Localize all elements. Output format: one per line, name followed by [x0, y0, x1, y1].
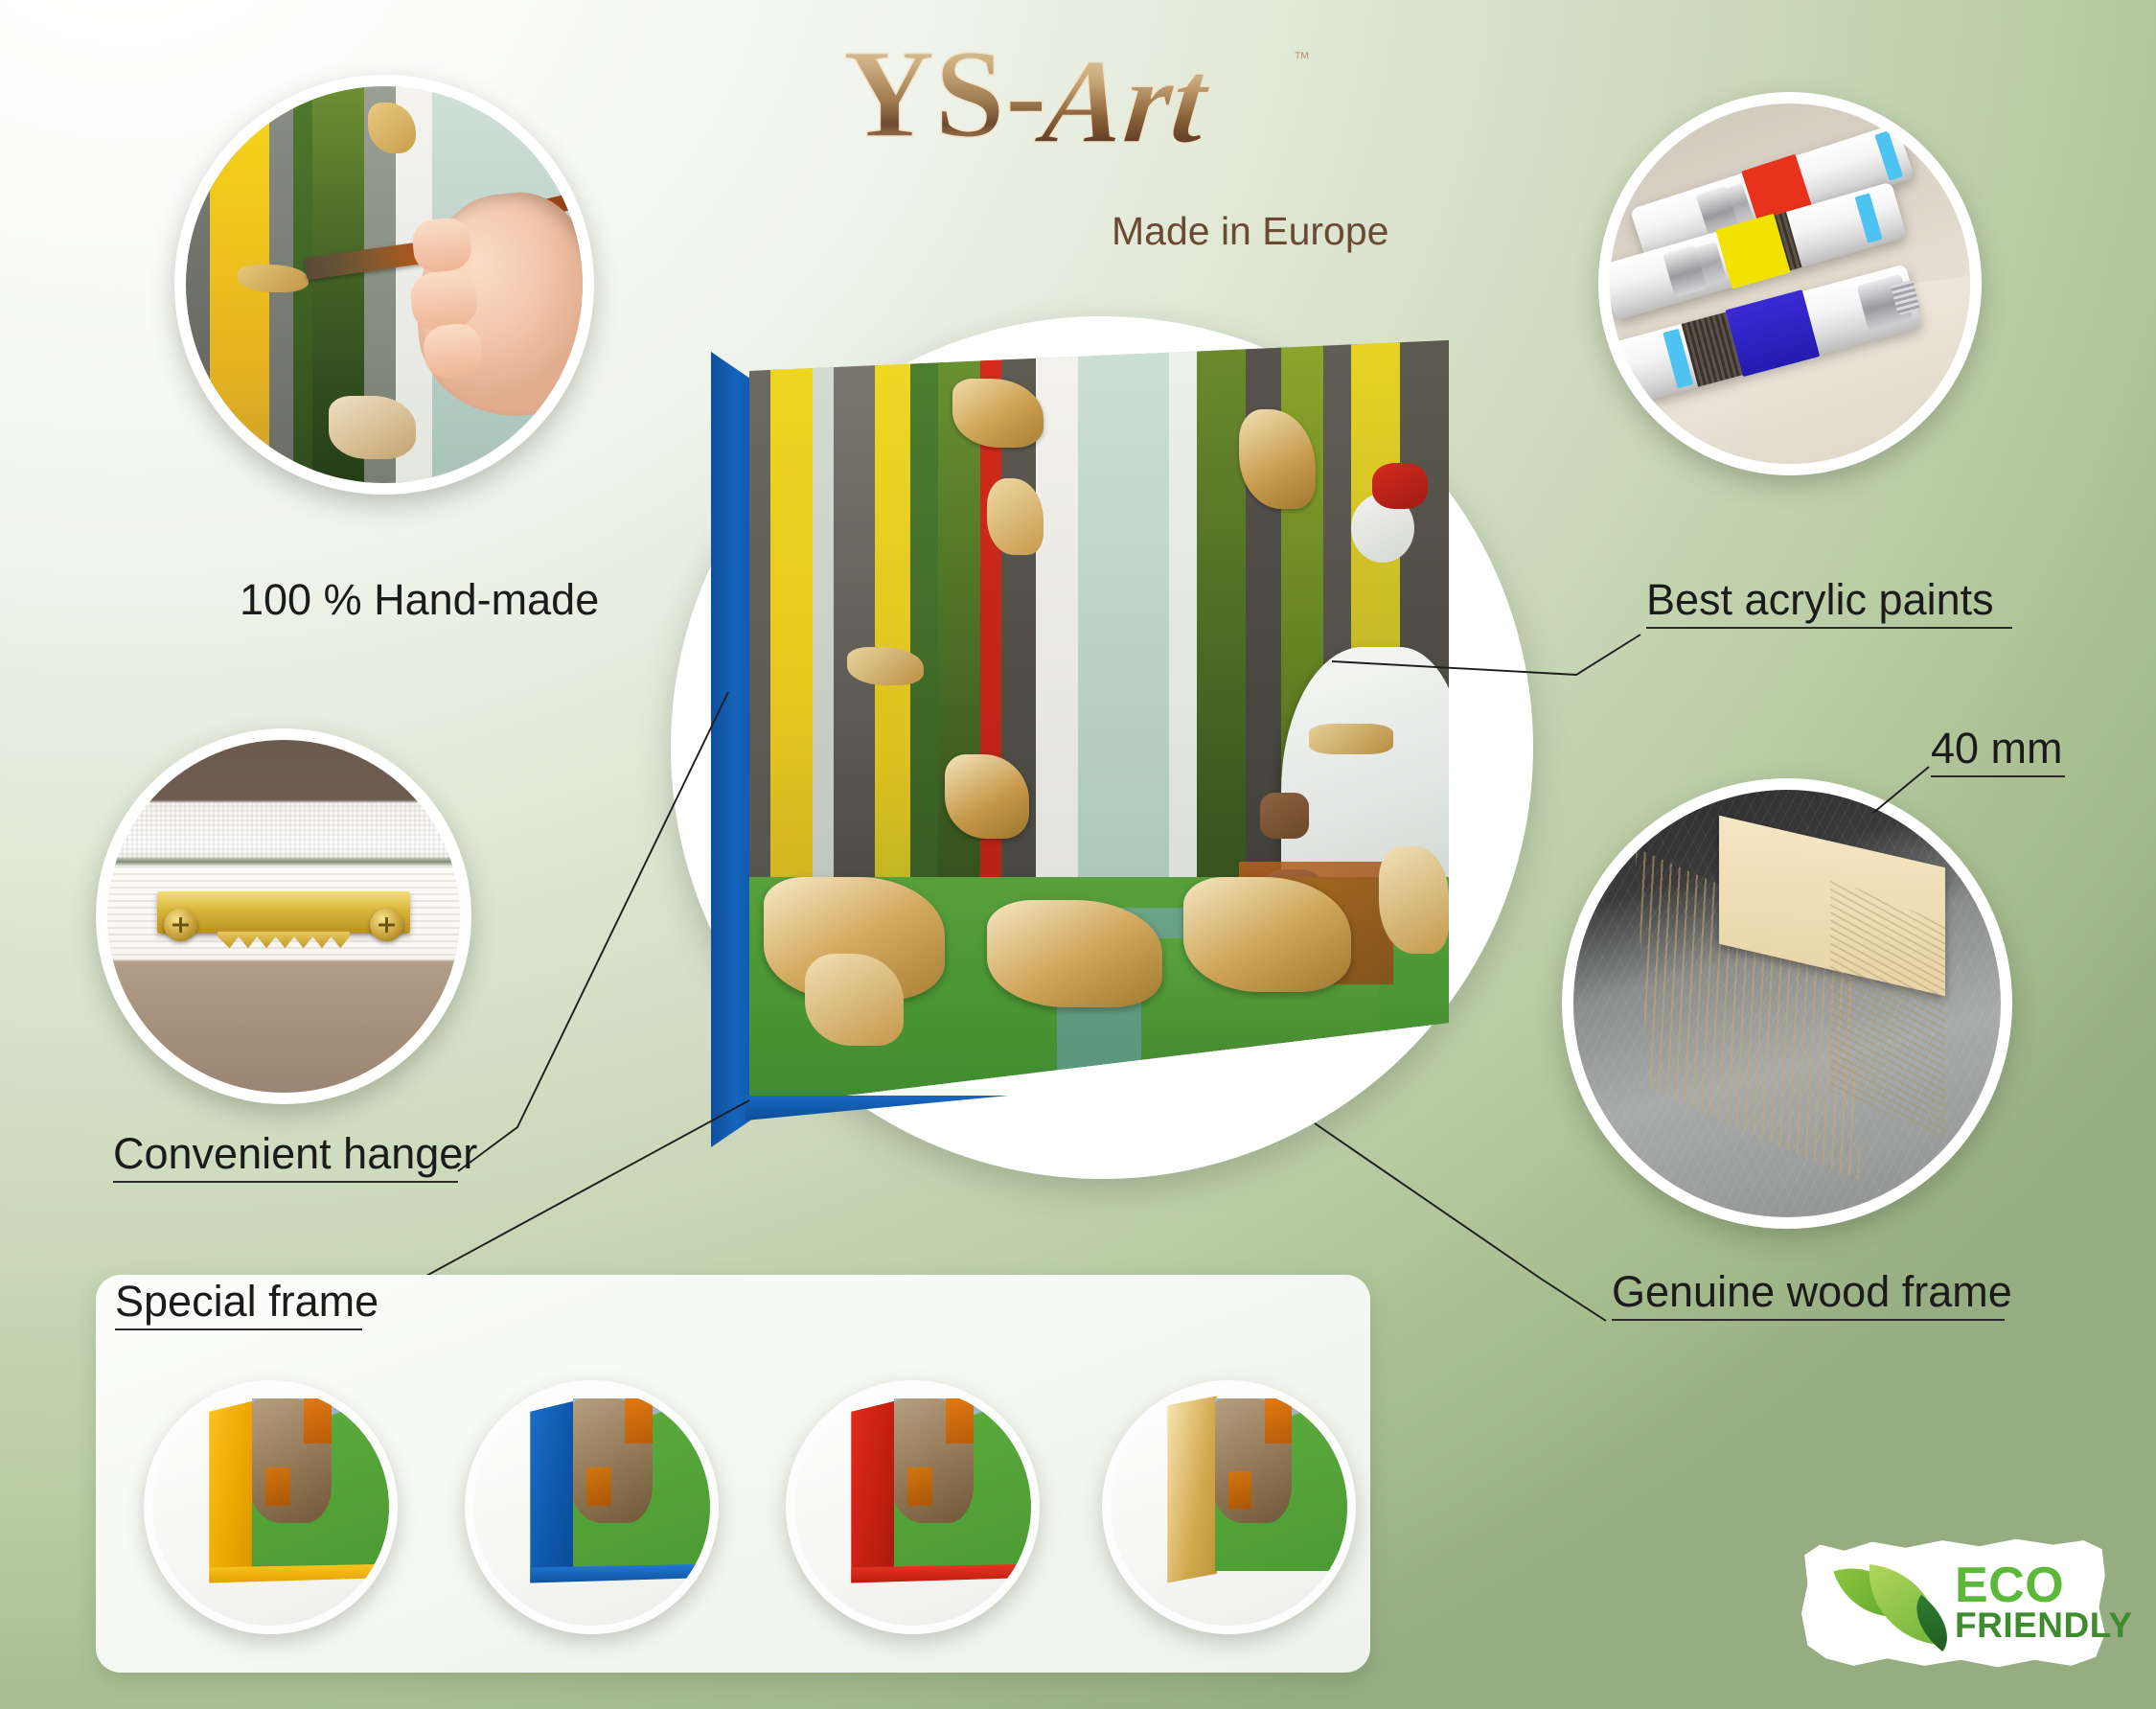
gold-frame-artwork: [1215, 1398, 1347, 1571]
hanger-label: Convenient hanger: [113, 1129, 477, 1183]
blue-frame-artwork: [573, 1398, 710, 1571]
painting-surface: [749, 340, 1449, 1107]
svg-text:YS-: YS-: [843, 29, 1047, 163]
sawtooth-hanger: [157, 891, 411, 934]
gold-frame-side: [1167, 1396, 1217, 1582]
wood-label: Genuine wood frame: [1612, 1267, 2012, 1321]
handmade-photo-circle: [174, 75, 594, 495]
svg-text:Art: Art: [1031, 35, 1217, 163]
eco-line1: ECO: [1955, 1560, 2064, 1610]
eco-line2: FRIENDLY: [1955, 1607, 2133, 1643]
handmade-label: 100 % Hand-made: [240, 575, 599, 625]
hanger-screw-right: [370, 909, 402, 941]
wood-photo: [1573, 790, 2001, 1217]
thickness-label: 40 mm: [1931, 724, 2065, 777]
frame-swatch-yellow[interactable]: [144, 1380, 398, 1634]
yellow-frame-side: [209, 1400, 254, 1582]
wood-underline: [1612, 1319, 2005, 1321]
acrylic-label-text: Best acrylic paints: [1646, 575, 1994, 624]
hanger-photo: [107, 740, 460, 1093]
hanger-label-text: Convenient hanger: [113, 1129, 477, 1178]
thickness-underline: [1931, 775, 2065, 777]
handmade-photo: [186, 86, 583, 483]
paints-photo: [1610, 104, 1970, 464]
acrylic-underline: [1646, 627, 2012, 629]
svg-text:™: ™: [1294, 49, 1310, 67]
blue-frame-side: [530, 1400, 575, 1582]
hanger-screw-left: [164, 909, 196, 941]
hanger-underline: [113, 1181, 458, 1183]
red-frame-artwork: [894, 1398, 1031, 1571]
yellow-frame-artwork: [252, 1398, 389, 1571]
frame-swatch-gold[interactable]: [1102, 1380, 1356, 1634]
thickness-label-text: 40 mm: [1931, 724, 2063, 773]
frame-bottom-edge: [745, 1096, 1455, 1120]
wood-label-text: Genuine wood frame: [1612, 1267, 2012, 1316]
frame-swatch-red[interactable]: [786, 1380, 1040, 1634]
logo-artwork: YS- Art ™: [843, 29, 1380, 163]
wood-photo-circle: [1562, 778, 2012, 1229]
frame-left-edge: [711, 352, 753, 1147]
brand-tagline: Made in Europe: [1112, 209, 1388, 254]
special-frame-label: Special frame: [115, 1277, 378, 1330]
eco-friendly-badge: ECO FRIENDLY: [1801, 1532, 2108, 1677]
paints-photo-circle: [1598, 92, 1982, 475]
special-frame-underline: [115, 1328, 362, 1330]
acrylic-label: Best acrylic paints: [1646, 575, 2012, 629]
special-frame-label-text: Special frame: [115, 1277, 378, 1326]
infographic-canvas: YS- Art ™ YS-Art Made in Europe: [0, 0, 2156, 1709]
hanger-photo-circle: [96, 728, 471, 1104]
red-frame-side: [851, 1400, 896, 1582]
brand-logo: YS- Art ™ YS-Art: [843, 29, 1380, 163]
main-artwork: [711, 340, 1497, 1165]
frame-swatch-blue[interactable]: [465, 1380, 719, 1634]
